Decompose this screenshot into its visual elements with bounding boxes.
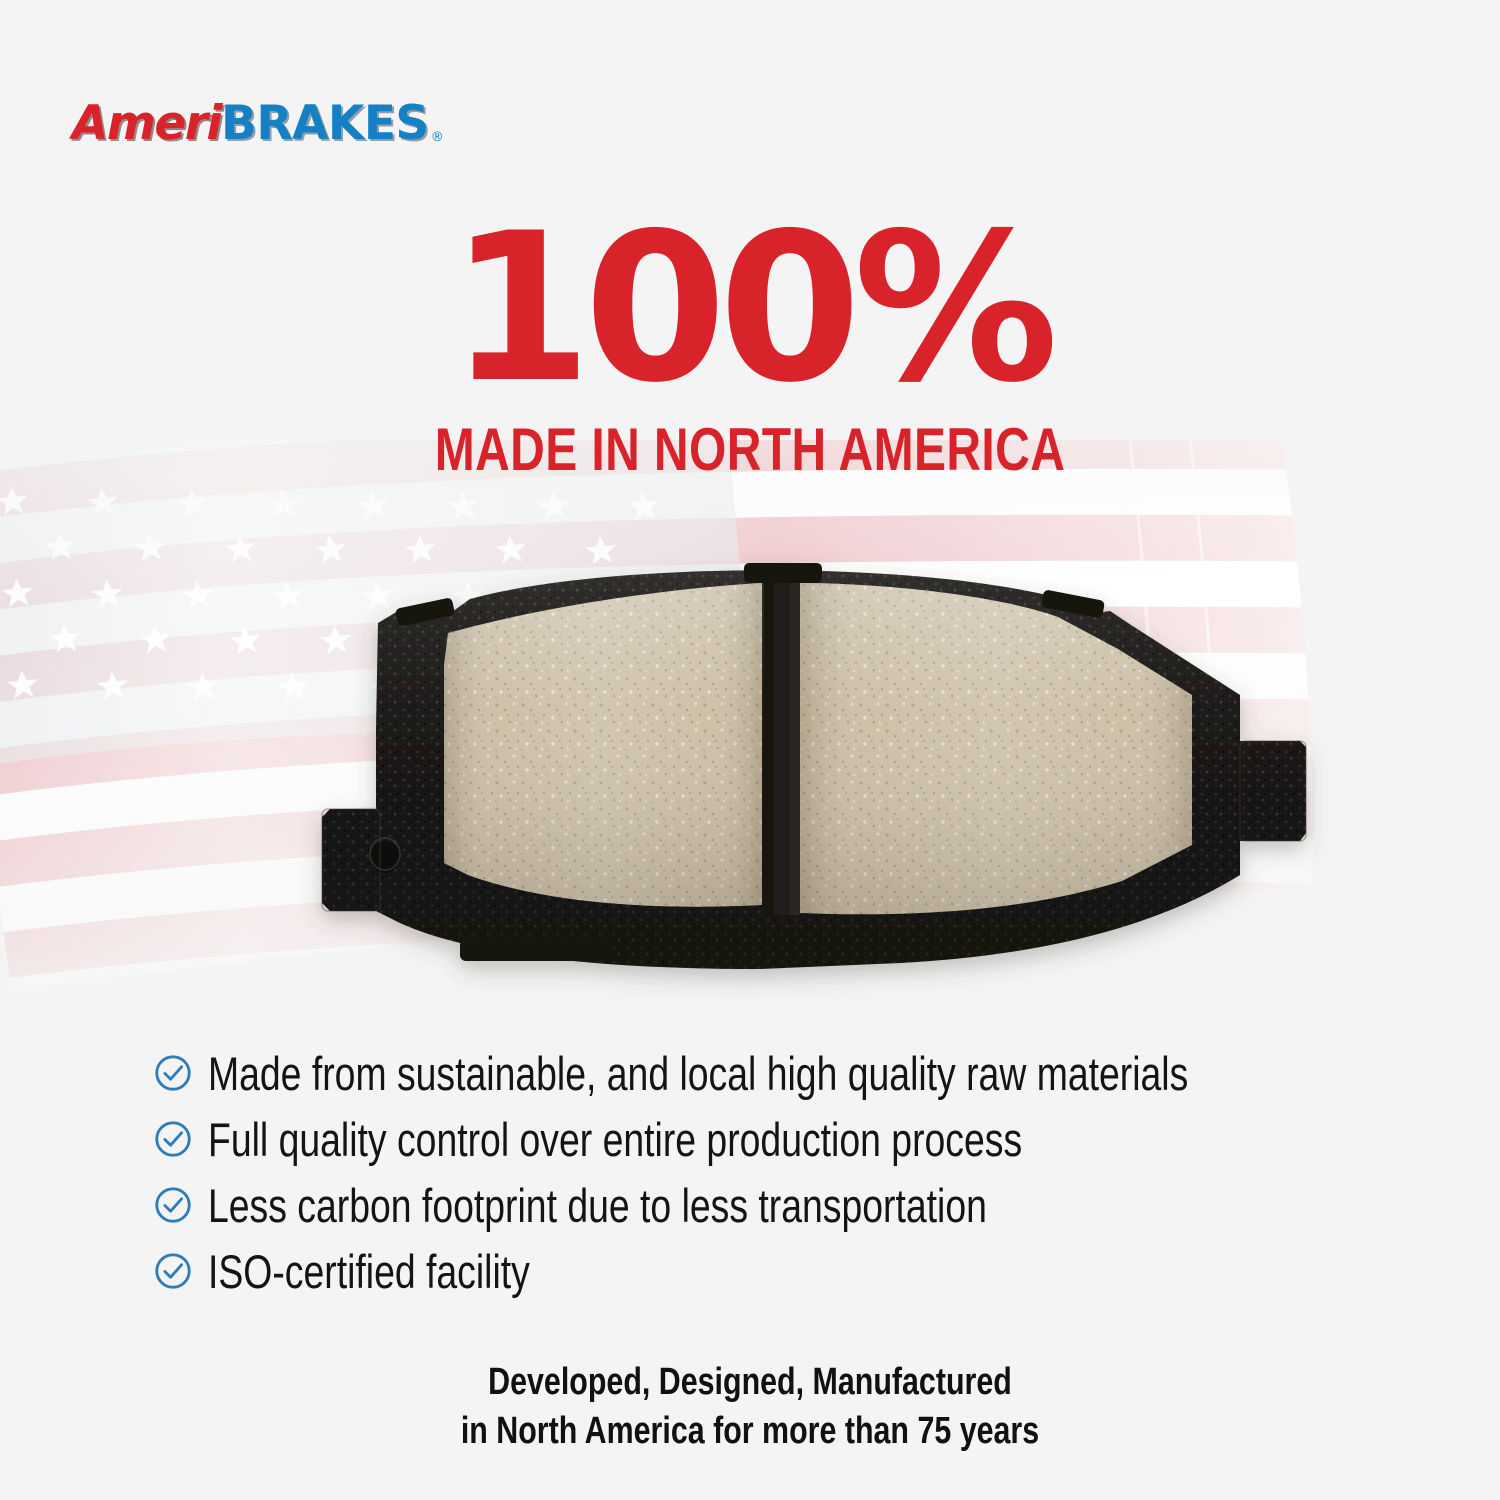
footer-line-1: Developed, Designed, Manufactured [150, 1358, 1350, 1407]
list-item: Full quality control over entire product… [152, 1106, 1372, 1172]
list-item-label: Less carbon footprint due to less transp… [208, 1178, 987, 1233]
list-item-label: Full quality control over entire product… [208, 1112, 1022, 1167]
logo-text-ameri: Ameri [72, 100, 221, 147]
check-circle-icon [152, 1118, 194, 1160]
list-item-label: ISO-certified facility [208, 1244, 530, 1299]
mounting-hole [370, 841, 400, 873]
brand-logo[interactable]: AmeriBRAKES® [72, 100, 444, 147]
footer-line-2: in North America for more than 75 years [150, 1407, 1350, 1456]
check-circle-icon [152, 1250, 194, 1292]
feature-list: Made from sustainable, and local high qu… [152, 1040, 1372, 1304]
logo-text-brakes: BRAKES [221, 100, 429, 147]
plate-lower-tab [460, 939, 610, 961]
brake-pad-graphic [0, 545, 1500, 1005]
promo-canvas: AmeriBRAKES® [0, 0, 1500, 1500]
footer-block: Developed, Designed, Manufactured in Nor… [0, 1358, 1500, 1455]
headline-subtitle: MADE IN NORTH AMERICA [150, 415, 1350, 484]
check-circle-icon [152, 1052, 194, 1094]
list-item: ISO-certified facility [152, 1238, 1372, 1304]
page-title: 100% [0, 212, 1500, 407]
headline-block: 100% MADE IN NORTH AMERICA [0, 212, 1500, 484]
list-item: Made from sustainable, and local high qu… [152, 1040, 1372, 1106]
list-item-label: Made from sustainable, and local high qu… [208, 1046, 1188, 1101]
plate-top-tab [744, 563, 822, 583]
registered-trademark-icon: ® [431, 131, 444, 147]
list-item: Less carbon footprint due to less transp… [152, 1172, 1372, 1238]
product-image-brake-pad [0, 545, 1500, 1005]
check-circle-icon [152, 1184, 194, 1226]
